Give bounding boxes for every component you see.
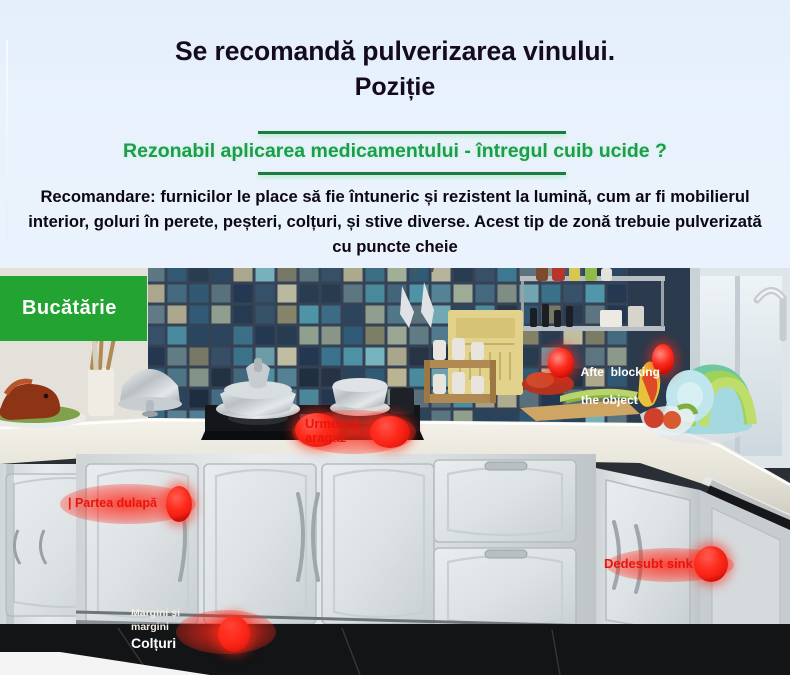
page-title-line1: Se recomandă pulverizarea vinului.: [0, 36, 790, 67]
kitchen-photo: Bucătărie Urmează aragaz | Partea dulapă…: [0, 268, 790, 675]
hotspot-glow-corners: [176, 610, 276, 654]
divider-top: [258, 131, 566, 134]
hotspot-label-blocked: Afte blocking the object: [561, 351, 660, 421]
subheading: Rezonabil aplicarea medicamentului - înt…: [0, 140, 790, 163]
hotspot-label-under-sink: Dedesubt sink: [604, 557, 693, 571]
hotspot-label-blocked-line2: the object: [581, 393, 638, 407]
room-label-badge: Bucătărie: [0, 276, 147, 341]
hotspot-label-cabinet-side: | Partea dulapă: [68, 496, 157, 510]
body-paragraph: Recomandare: furnicilor le place să fie …: [22, 184, 768, 259]
info-header: Se recomandă pulverizarea vinului. Poziț…: [0, 0, 790, 268]
hotspot-label-edges: Margini și margini: [131, 606, 180, 634]
page-title-line2: Poziție: [0, 73, 790, 102]
hotspot-label-blocked-line1: Afte blocking: [581, 365, 660, 379]
hotspot-label-stove: Urmează aragaz: [305, 417, 359, 445]
room-label-text: Bucătărie: [0, 297, 117, 320]
page-root: Se recomandă pulverizarea vinului. Poziț…: [0, 0, 790, 675]
divider-bottom: [258, 172, 566, 175]
hotspot-label-corners: Colțuri: [131, 636, 176, 650]
